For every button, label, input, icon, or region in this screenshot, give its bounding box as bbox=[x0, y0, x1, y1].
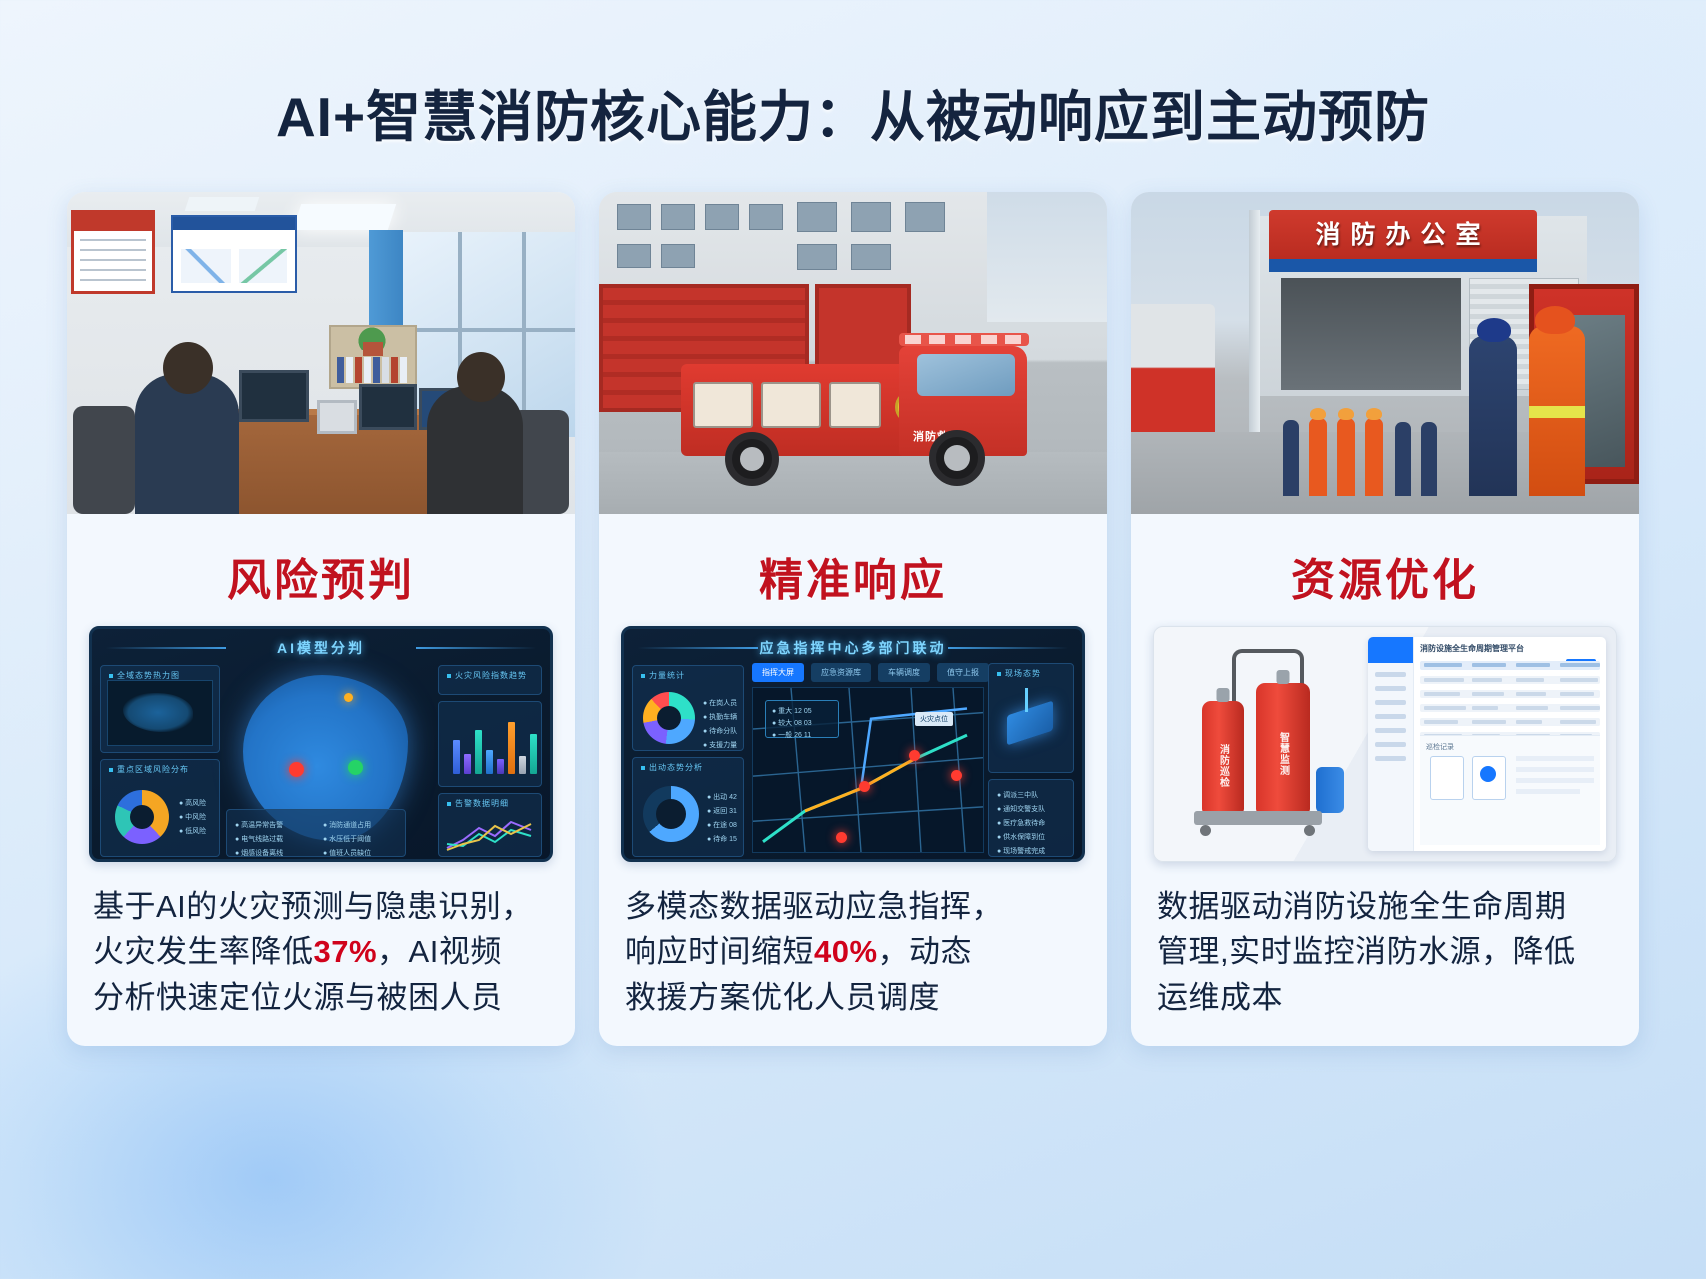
desc-line-2: 管理,实时监控消防水源，降低 bbox=[1157, 934, 1576, 969]
dashboard-header: AI模型分判 bbox=[92, 635, 550, 661]
card-resource-optimization[interactable]: 消防办公室 资源优化 bbox=[1131, 192, 1639, 1046]
tab-resources[interactable]: 应急资源库 bbox=[811, 663, 871, 682]
card-description: 多模态数据驱动应急指挥， 响应时间缩短40%，动态 救援方案优化人员调度 bbox=[625, 884, 1081, 1020]
tab-vehicles[interactable]: 车辆调度 bbox=[878, 663, 930, 682]
panel-force-stats: 力量统计 ● 在岗人员 ● 执勤车辆 ● 待命分队 ● 支援力量 bbox=[632, 665, 744, 751]
dashboard-risk-model[interactable]: AI模型分判 全域态势热力图 重点区域风险分布 ● 高风险 ● 中风险 ● 低风… bbox=[89, 626, 553, 862]
extinguisher-small: 消防巡检 bbox=[1202, 701, 1244, 813]
trend-line-chart bbox=[443, 814, 539, 854]
table-header-row bbox=[1420, 661, 1600, 670]
desc-line-3: 分析快速定位火源与被困人员 bbox=[93, 980, 503, 1015]
desc-line-2-pre: 火灾发生率降低 bbox=[93, 934, 314, 969]
table-row[interactable] bbox=[1420, 704, 1600, 712]
card-title: 风险预判 bbox=[67, 544, 575, 608]
asset-platform-window[interactable]: 消防设施全生命周期管理平台 巡检记录 bbox=[1368, 637, 1606, 851]
card-precise-response[interactable]: 消防救援 精准响应 应急指挥中心多部门联动 力量统计 bbox=[599, 192, 1107, 1046]
metric-highlight: 37% bbox=[314, 934, 378, 969]
card-title: 精准响应 bbox=[599, 544, 1107, 608]
asset-table[interactable]: 巡检记录 bbox=[1420, 661, 1600, 845]
photo-fire-truck: 消防救援 bbox=[599, 192, 1107, 514]
metric-highlight: 40% bbox=[814, 934, 878, 969]
route-pin-3[interactable] bbox=[951, 770, 962, 781]
dashboard-tabs[interactable]: 指挥大屏 应急资源库 车辆调度 值守上报 bbox=[752, 663, 989, 682]
dashboard-command-center[interactable]: 应急指挥中心多部门联动 力量统计 ● 在岗人员 ● 执勤车辆 ● 待命分队 ● … bbox=[621, 626, 1085, 862]
desc-line-1: 基于AI的火灾预测与隐患识别， bbox=[93, 889, 533, 924]
photo-office-monitoring bbox=[67, 192, 575, 514]
panel-bar-chart bbox=[438, 701, 542, 787]
panel-dispatch-analysis: 出动态势分析 ● 出动 42 ● 返回 31 ● 在途 08 ● 待命 15 bbox=[632, 757, 744, 857]
water-valve bbox=[1316, 767, 1344, 813]
slide-root: AI+智慧消防核心能力：从被动响应到主动预防 bbox=[0, 0, 1706, 1279]
card-title: 资源优化 bbox=[1131, 544, 1639, 608]
desc-line-3: 救援方案优化人员调度 bbox=[625, 980, 940, 1015]
page-title: AI+智慧消防核心能力：从被动响应到主动预防 bbox=[0, 72, 1706, 152]
platform-sidebar[interactable] bbox=[1368, 637, 1414, 851]
extinguisher-group: 消防巡检 智慧监测 bbox=[1180, 649, 1356, 839]
tab-command[interactable]: 指挥大屏 bbox=[752, 663, 804, 682]
tab-duty[interactable]: 值守上报 bbox=[937, 663, 989, 682]
panel-task-list: ● 调派三中队 ● 通知交警支队 ● 医疗急救待命 ● 供水保障到位 ● 现场警… bbox=[988, 779, 1074, 857]
photo-fire-station: 消防办公室 bbox=[1131, 192, 1639, 514]
desc-line-3: 运维成本 bbox=[1157, 980, 1283, 1015]
desc-line-1: 多模态数据驱动应急指挥， bbox=[625, 889, 1003, 924]
desc-line-2-pre: 响应时间缩短 bbox=[625, 934, 814, 969]
card-description: 数据驱动消防设施全生命周期 管理,实时监控消防水源，降低 运维成本 bbox=[1157, 884, 1613, 1020]
panel-alert-list: ● 高温异常告警 ● 电气线路过载 ● 烟感设备离线 ● 消防通道占用 ● 水压… bbox=[226, 809, 406, 857]
panel-scene-view: 现场态势 bbox=[988, 663, 1074, 773]
panel-trend-chart: 告警数据明细 bbox=[438, 793, 542, 857]
officer-blue bbox=[1469, 336, 1517, 496]
panel-risk-distribution: 重点区域风险分布 ● 高风险 ● 中风险 ● 低风险 bbox=[100, 759, 220, 857]
desc-line-2-post: ，动态 bbox=[878, 934, 973, 969]
panel-label-inspection: 巡检记录 bbox=[1426, 742, 1454, 752]
card-risk-prediction[interactable]: 风险预判 AI模型分判 全域态势热力图 重点区域风险分布 ● 高风险 ● 中风险… bbox=[67, 192, 575, 1046]
platform-title: 消防设施全生命周期管理平台 bbox=[1420, 643, 1524, 654]
dashboard-asset-management[interactable]: 消防巡检 智慧监测 bbox=[1153, 626, 1617, 862]
title-area: AI+智慧消防核心能力：从被动响应到主动预防 bbox=[0, 0, 1706, 152]
station-sign: 消防办公室 bbox=[1269, 210, 1537, 272]
desc-line-2-post: ，AI视频 bbox=[377, 934, 502, 969]
table-row[interactable] bbox=[1420, 690, 1600, 698]
panel-heatmap: 全域态势热力图 bbox=[100, 665, 220, 753]
extinguisher-large: 智慧监测 bbox=[1256, 683, 1310, 813]
panel-stats: 火灾风险指数趋势 bbox=[438, 665, 542, 695]
card-row: 风险预判 AI模型分判 全域态势热力图 重点区域风险分布 ● 高风险 ● 中风险… bbox=[0, 192, 1706, 1046]
route-map[interactable]: ● 重大 12 05 ● 较大 08 03 ● 一般 26 11 火灾点位 bbox=[752, 687, 984, 853]
dashboard-header: 应急指挥中心多部门联动 bbox=[624, 635, 1082, 661]
table-row[interactable] bbox=[1420, 718, 1600, 726]
card-description: 基于AI的火灾预测与隐患识别， 火灾发生率降低37%，AI视频 分析快速定位火源… bbox=[93, 884, 549, 1020]
desc-line-1: 数据驱动消防设施全生命周期 bbox=[1157, 889, 1567, 924]
table-row[interactable] bbox=[1420, 676, 1600, 684]
